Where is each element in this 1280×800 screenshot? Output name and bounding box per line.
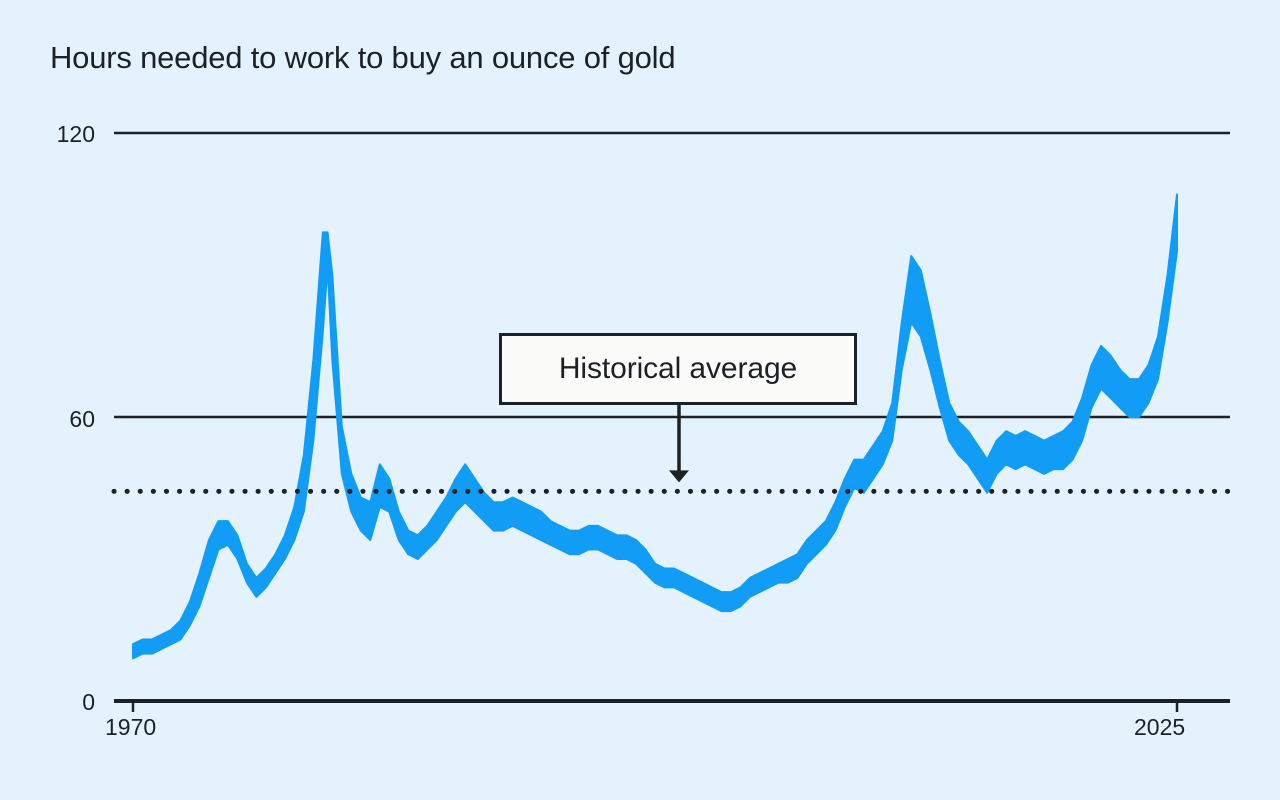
annotation-label: Historical average [559,352,797,386]
x-axis [114,701,1230,712]
annotation-historical-average: Historical average [499,333,857,405]
chart-container: Hours needed to work to buy an ounce of … [0,0,1280,800]
data-series-band [133,195,1177,659]
